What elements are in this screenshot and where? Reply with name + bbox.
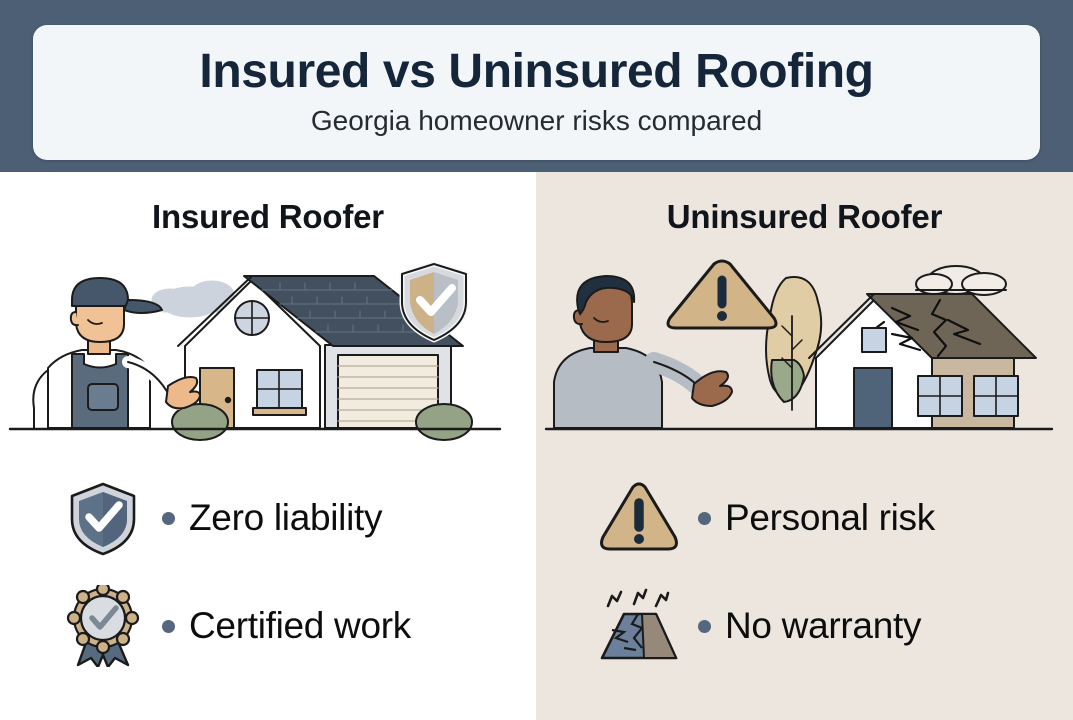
list-item: Certified work [0, 572, 536, 680]
bush [172, 404, 472, 440]
front-door-right [854, 368, 892, 428]
bullet-dot [162, 512, 175, 525]
cloud-icon [916, 266, 1006, 295]
page-title: Insured vs Uninsured Roofing [199, 48, 873, 96]
header-band: Insured vs Uninsured Roofing Georgia hom… [0, 0, 1073, 172]
bullet-label: Zero liability [189, 497, 382, 539]
list-item: No warranty [536, 572, 1073, 680]
header-card: Insured vs Uninsured Roofing Georgia hom… [33, 25, 1040, 160]
uninsured-bullet-list: Personal risk [536, 464, 1073, 680]
bullet-label: Certified work [189, 605, 411, 647]
panel-insured: Insured Roofer [0, 172, 536, 720]
insured-roofer-illustration [0, 250, 536, 452]
warning-triangle-icon [598, 477, 680, 559]
panel-uninsured: Uninsured Roofer [536, 172, 1073, 720]
gable-window-right [862, 328, 886, 352]
broken-roof-icon [598, 585, 680, 667]
uninsured-roofer-illustration [536, 250, 1073, 452]
list-item: Personal risk [536, 464, 1073, 572]
front-window [253, 370, 306, 415]
certified-rosette-icon [62, 585, 144, 667]
tree [766, 277, 821, 410]
bullet-label: Personal risk [725, 497, 935, 539]
gable-window [235, 301, 269, 335]
bullet-dot [698, 512, 711, 525]
comparison-panels: Insured Roofer [0, 172, 1073, 720]
shield-check-icon [62, 477, 144, 559]
list-item: Zero liability [0, 464, 536, 572]
bullet-dot [162, 620, 175, 633]
page-subtitle: Georgia homeowner risks compared [311, 106, 762, 137]
shield-check-badge [402, 264, 466, 340]
infographic-root: Insured vs Uninsured Roofing Georgia hom… [0, 0, 1073, 720]
panel-heading-uninsured: Uninsured Roofer [536, 198, 1073, 236]
insured-bullet-list: Zero liability [0, 464, 536, 680]
warning-triangle [668, 261, 776, 328]
bullet-dot [698, 620, 711, 633]
bullet-label: No warranty [725, 605, 921, 647]
panel-heading-insured: Insured Roofer [0, 198, 536, 236]
